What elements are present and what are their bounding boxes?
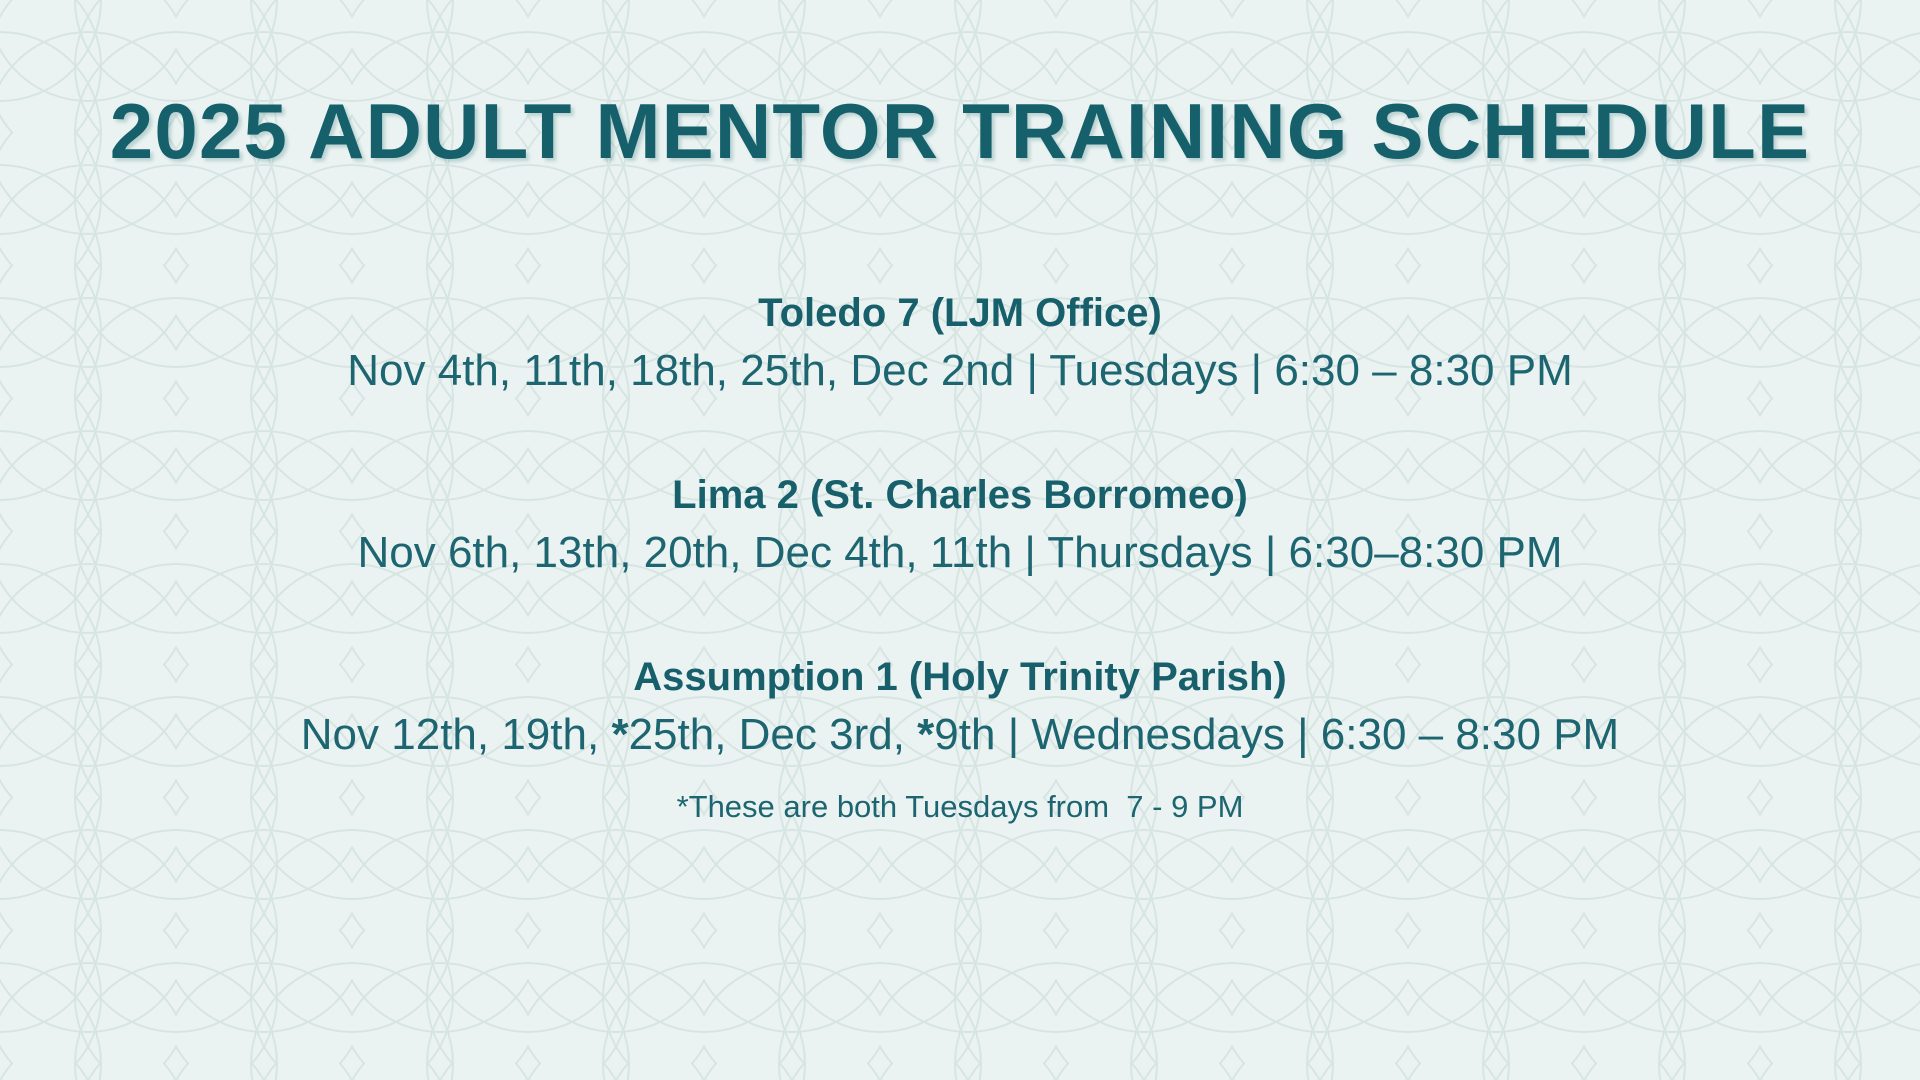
section-heading-assumption: Assumption 1 (Holy Trinity Parish) [0,654,1920,701]
footnote-row: *These are both Tuesdays from 7 - 9 PM [677,788,1244,825]
schedule-section-assumption: Assumption 1 (Holy Trinity Parish) Nov 1… [0,654,1920,762]
asterisk-marker: * [611,710,628,759]
section-dates-assumption: Nov 12th, 19th, *25th, Dec 3rd, *9th | W… [0,709,1920,762]
slide-root: 2025 ADULT MENTOR TRAINING SCHEDULE Tole… [0,0,1920,1080]
schedule-section-toledo: Toledo 7 (LJM Office) Nov 4th, 11th, 18t… [0,290,1920,398]
date-text-run: Nov 12th, 19th, [301,710,612,759]
page-title: 2025 ADULT MENTOR TRAINING SCHEDULE [110,92,1810,170]
date-text-run: Nov 4th, 11th, 18th, 25th, Dec 2nd | Tue… [347,346,1572,395]
section-heading-toledo: Toledo 7 (LJM Office) [0,290,1920,337]
schedule-section-lima: Lima 2 (St. Charles Borromeo) Nov 6th, 1… [0,472,1920,580]
section-dates-lima: Nov 6th, 13th, 20th, Dec 4th, 11th | Thu… [0,527,1920,580]
asterisk-marker: * [917,710,934,759]
date-text-run: Nov 6th, 13th, 20th, Dec 4th, 11th | Thu… [357,528,1562,577]
footnote-text: *These are both Tuesdays from 7 - 9 PM [677,788,1244,825]
section-heading-lima: Lima 2 (St. Charles Borromeo) [0,472,1920,519]
section-dates-toledo: Nov 4th, 11th, 18th, 25th, Dec 2nd | Tue… [0,345,1920,398]
date-text-run: 25th, Dec 3rd, [629,710,918,759]
date-text-run: 9th | Wednesdays | 6:30 – 8:30 PM [934,710,1619,759]
